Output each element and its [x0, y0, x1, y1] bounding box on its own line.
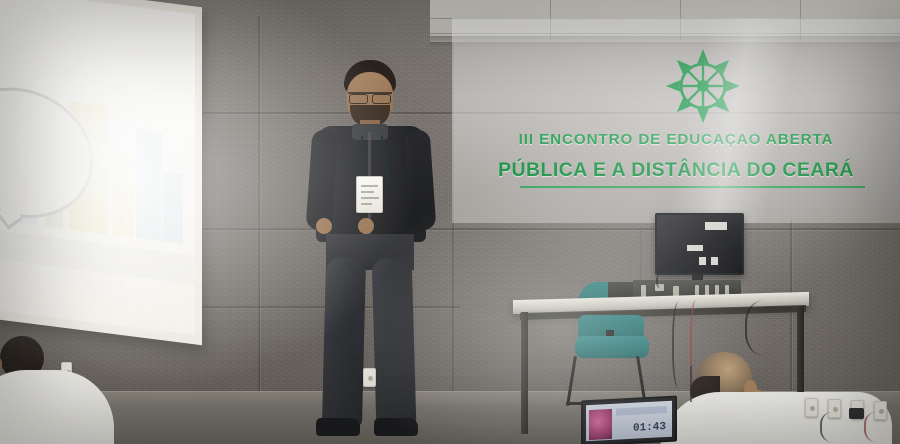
monitor-sticker: [711, 257, 718, 265]
presenter-leg-left: [322, 258, 366, 427]
projection-screen: [0, 0, 202, 345]
wall-outlet[interactable]: [363, 368, 376, 387]
laptop-timer: 01:43: [633, 421, 666, 435]
conference-photo: III ENCONTRO DE EDUCAÇAO ABERTA PÚBLICA …: [0, 0, 900, 444]
projected-slide: [0, 0, 195, 335]
power-cable: [656, 274, 666, 288]
power-plug: [849, 408, 864, 419]
wall-outlet[interactable]: [805, 398, 818, 417]
monitor-sticker: [687, 245, 703, 251]
conference-name-badge: [356, 176, 383, 213]
badge-text-line: [361, 203, 372, 205]
presenter-shoe-right: [374, 418, 418, 436]
audience-laptop[interactable]: 01:43: [581, 395, 677, 444]
laptop-screen: 01:43: [586, 401, 672, 442]
banner-title-line2: PÚBLICA E A DISTÂNCIA DO CEARÁ: [452, 159, 900, 182]
badge-text-line: [361, 185, 378, 187]
eight-spoke-wheel-logo: [661, 44, 745, 128]
banner-title-line1: III ENCONTRO DE EDUCAÇAO ABERTA: [452, 131, 900, 148]
projection-screen-surface: [0, 0, 195, 335]
audience-member-left: [0, 336, 108, 444]
computer-monitor: [655, 213, 744, 275]
audience-shirt: [0, 370, 114, 444]
laptop-thumbnail-image: [589, 409, 612, 440]
presenter-leg-right: [372, 257, 417, 426]
banner-underline: [520, 186, 865, 188]
power-cable: [820, 412, 850, 442]
headset-cable: [690, 366, 700, 402]
badge-text-line: [361, 191, 374, 193]
office-chair-seat: [575, 336, 649, 358]
laptop-screen-header: [616, 406, 667, 416]
power-cable: [745, 300, 793, 356]
desk-leg: [521, 312, 528, 434]
slide-building: [136, 129, 162, 241]
presenter-hand-right: [358, 218, 374, 234]
monitor-sticker: [699, 257, 706, 265]
monitor-sticker: [705, 222, 727, 230]
slide-building: [112, 148, 134, 237]
presenter-hand-left: [316, 218, 332, 234]
presenter-shoe-left: [316, 418, 360, 436]
slide-building: [163, 171, 183, 244]
badge-text-line: [361, 197, 379, 199]
presenter-arm-right: [404, 129, 437, 231]
wall-seam: [258, 16, 260, 396]
eyeglasses: [348, 92, 392, 100]
power-cable-red: [864, 412, 894, 442]
